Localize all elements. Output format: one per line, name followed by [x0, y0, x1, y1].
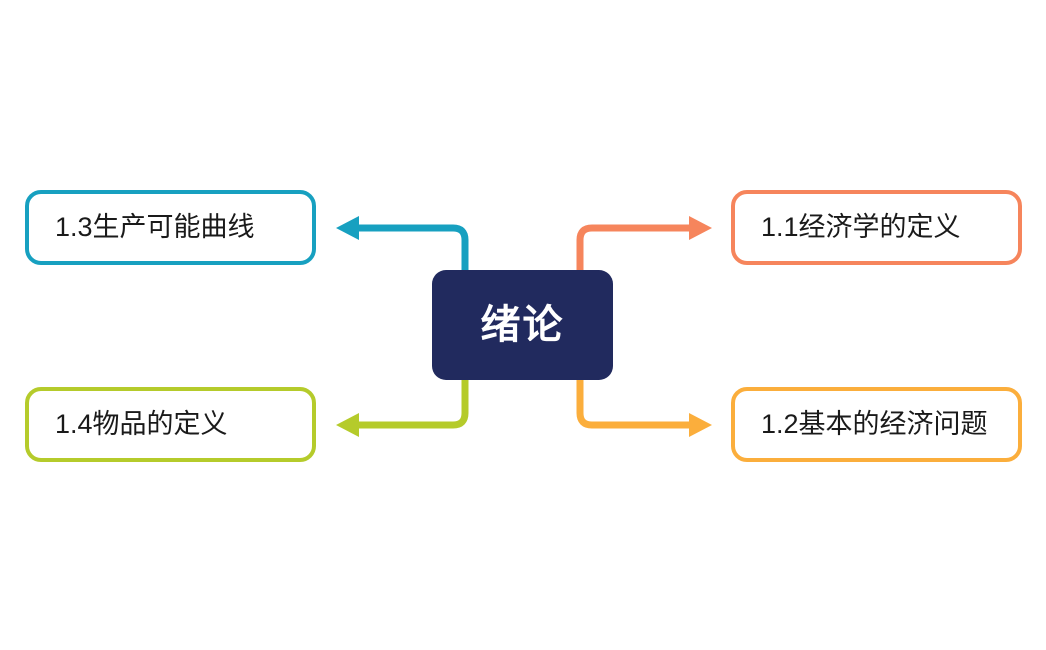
mind-map-diagram: 1.3生产可能曲线 1.4物品的定义 1.1经济学的定义 1.2基本的经济问题 …	[0, 0, 1046, 650]
branch-node-1-2[interactable]: 1.2基本的经济问题	[731, 387, 1022, 462]
branch-label-1-1: 1.1经济学的定义	[735, 213, 961, 243]
branch-label-1-4: 1.4物品的定义	[29, 410, 228, 440]
arrowhead-right-coral-icon	[689, 216, 712, 240]
connector-to-1-4	[336, 380, 465, 437]
branch-label-1-3: 1.3生产可能曲线	[29, 213, 255, 243]
arrowhead-left-olive-icon	[336, 413, 359, 437]
branch-label-1-2: 1.2基本的经济问题	[735, 410, 988, 440]
arrowhead-left-teal-icon	[336, 216, 359, 240]
connector-to-1-2	[580, 380, 712, 437]
arrowhead-right-amber-icon	[689, 413, 712, 437]
branch-node-1-1[interactable]: 1.1经济学的定义	[731, 190, 1022, 265]
center-node[interactable]: 绪论	[432, 270, 613, 380]
branch-node-1-3[interactable]: 1.3生产可能曲线	[25, 190, 316, 265]
connector-to-1-1	[580, 216, 712, 270]
connector-to-1-3	[336, 216, 465, 270]
branch-node-1-4[interactable]: 1.4物品的定义	[25, 387, 316, 462]
center-node-label: 绪论	[481, 305, 565, 345]
